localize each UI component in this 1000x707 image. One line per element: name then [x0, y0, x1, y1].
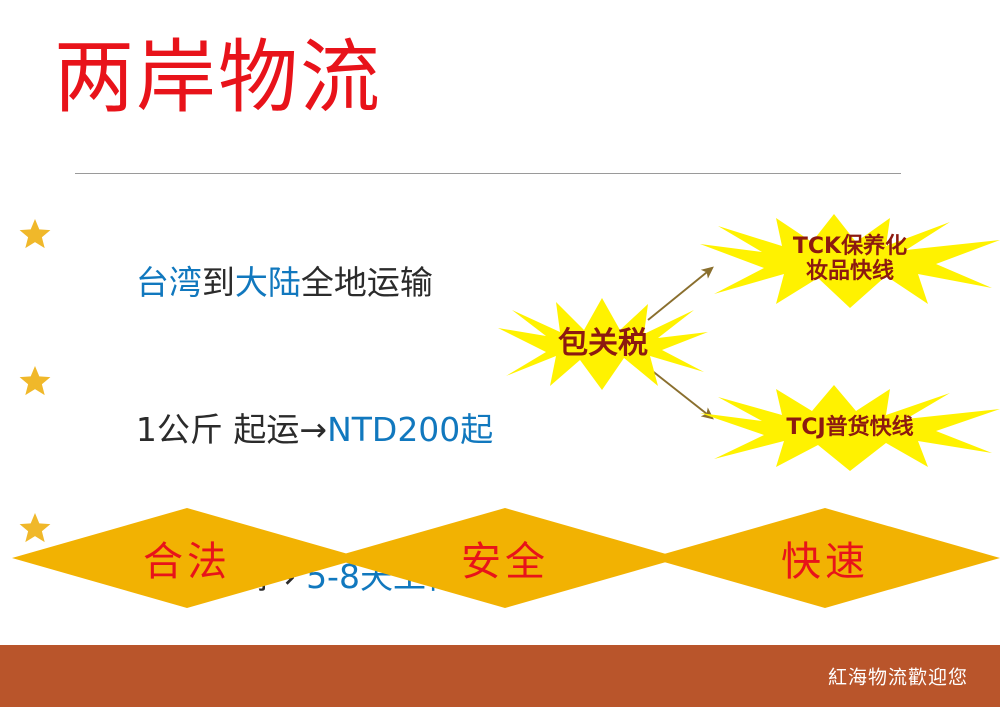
benefit-diamond-row: 合法 安全 快速 [0, 508, 1000, 608]
segment-text: 全地运输 [301, 263, 433, 302]
segment-text: 台湾 [136, 263, 202, 302]
footer-bar: 紅海物流歡迎您 [0, 645, 1000, 707]
star-icon [18, 361, 52, 401]
slide-canvas: 两岸物流 台湾到大陆全地运输 1公斤 起运→NTD200起 [0, 0, 1000, 707]
list-item-label: 台湾到大陆全地运输 [52, 212, 433, 353]
starburst-tck-cosmetics-line: TCK保养化 妆品快线 [700, 212, 1000, 308]
starburst-shape [700, 385, 1000, 471]
segment-text: 到 [202, 263, 235, 302]
starburst-shape [498, 298, 708, 390]
starburst-tax-included: 包关税 [498, 298, 708, 390]
feature-bullet-list: 台湾到大陆全地运输 1公斤 起运→NTD200起 到达时间→ 5-8天工作日 [18, 212, 618, 707]
diamond-safe: 安全 [330, 508, 680, 608]
starburst-shape [700, 214, 1000, 308]
diamond-label: 快速 [650, 508, 1000, 608]
star-icon [18, 214, 52, 254]
starburst-tcj-general-cargo-line: TCJ普货快线 [700, 385, 1000, 471]
diamond-label: 合法 [12, 508, 362, 608]
segment-text: NTD200起 [327, 410, 493, 449]
segment-text: 大陆 [235, 263, 301, 302]
list-item-label: 1公斤 起运→NTD200起 [52, 359, 493, 500]
diamond-label: 安全 [330, 508, 680, 608]
segment-text: 1公斤 起运→ [136, 410, 327, 449]
footer-text: 紅海物流歡迎您 [828, 663, 968, 690]
header-divider [75, 173, 901, 174]
page-title: 两岸物流 [54, 36, 382, 120]
diamond-legal: 合法 [12, 508, 362, 608]
diamond-fast: 快速 [650, 508, 1000, 608]
